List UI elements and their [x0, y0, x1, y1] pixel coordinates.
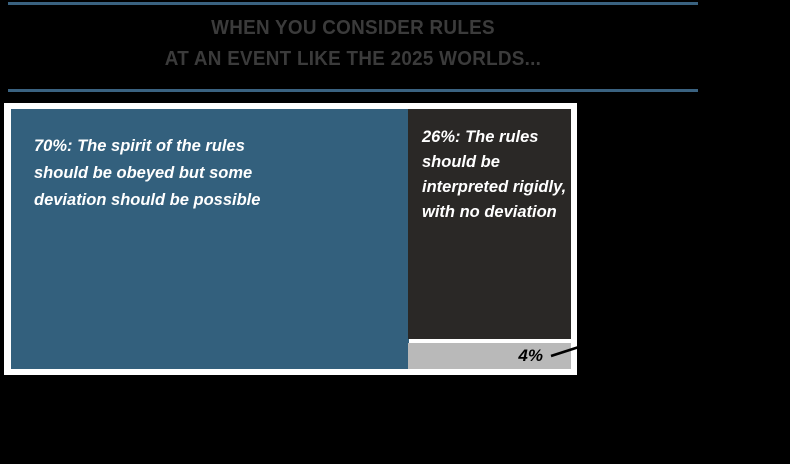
- header-bottom-rule: [8, 89, 698, 92]
- chart-container: 70%: The spirit of the rules should be o…: [4, 103, 577, 375]
- page-title: WHEN YOU CONSIDER RULES AT AN EVENT LIKE…: [36, 12, 671, 74]
- chart-segment-spirit-of-rules-label: 70%: The spirit of the rules should be o…: [34, 133, 284, 214]
- chart-segment-other-label: 4%: [518, 346, 543, 366]
- chart-segment-rules-rigid: 26%: The rules should be interpreted rig…: [408, 109, 571, 339]
- chart-segment-rules-rigid-label: 26%: The rules should be interpreted rig…: [422, 125, 567, 225]
- header-block: WHEN YOU CONSIDER RULES AT AN EVENT LIKE…: [8, 0, 698, 95]
- chart-segment-other: 4%: [408, 343, 571, 369]
- chart-segment-spirit-of-rules: 70%: The spirit of the rules should be o…: [11, 109, 409, 369]
- header-top-rule: [8, 2, 698, 5]
